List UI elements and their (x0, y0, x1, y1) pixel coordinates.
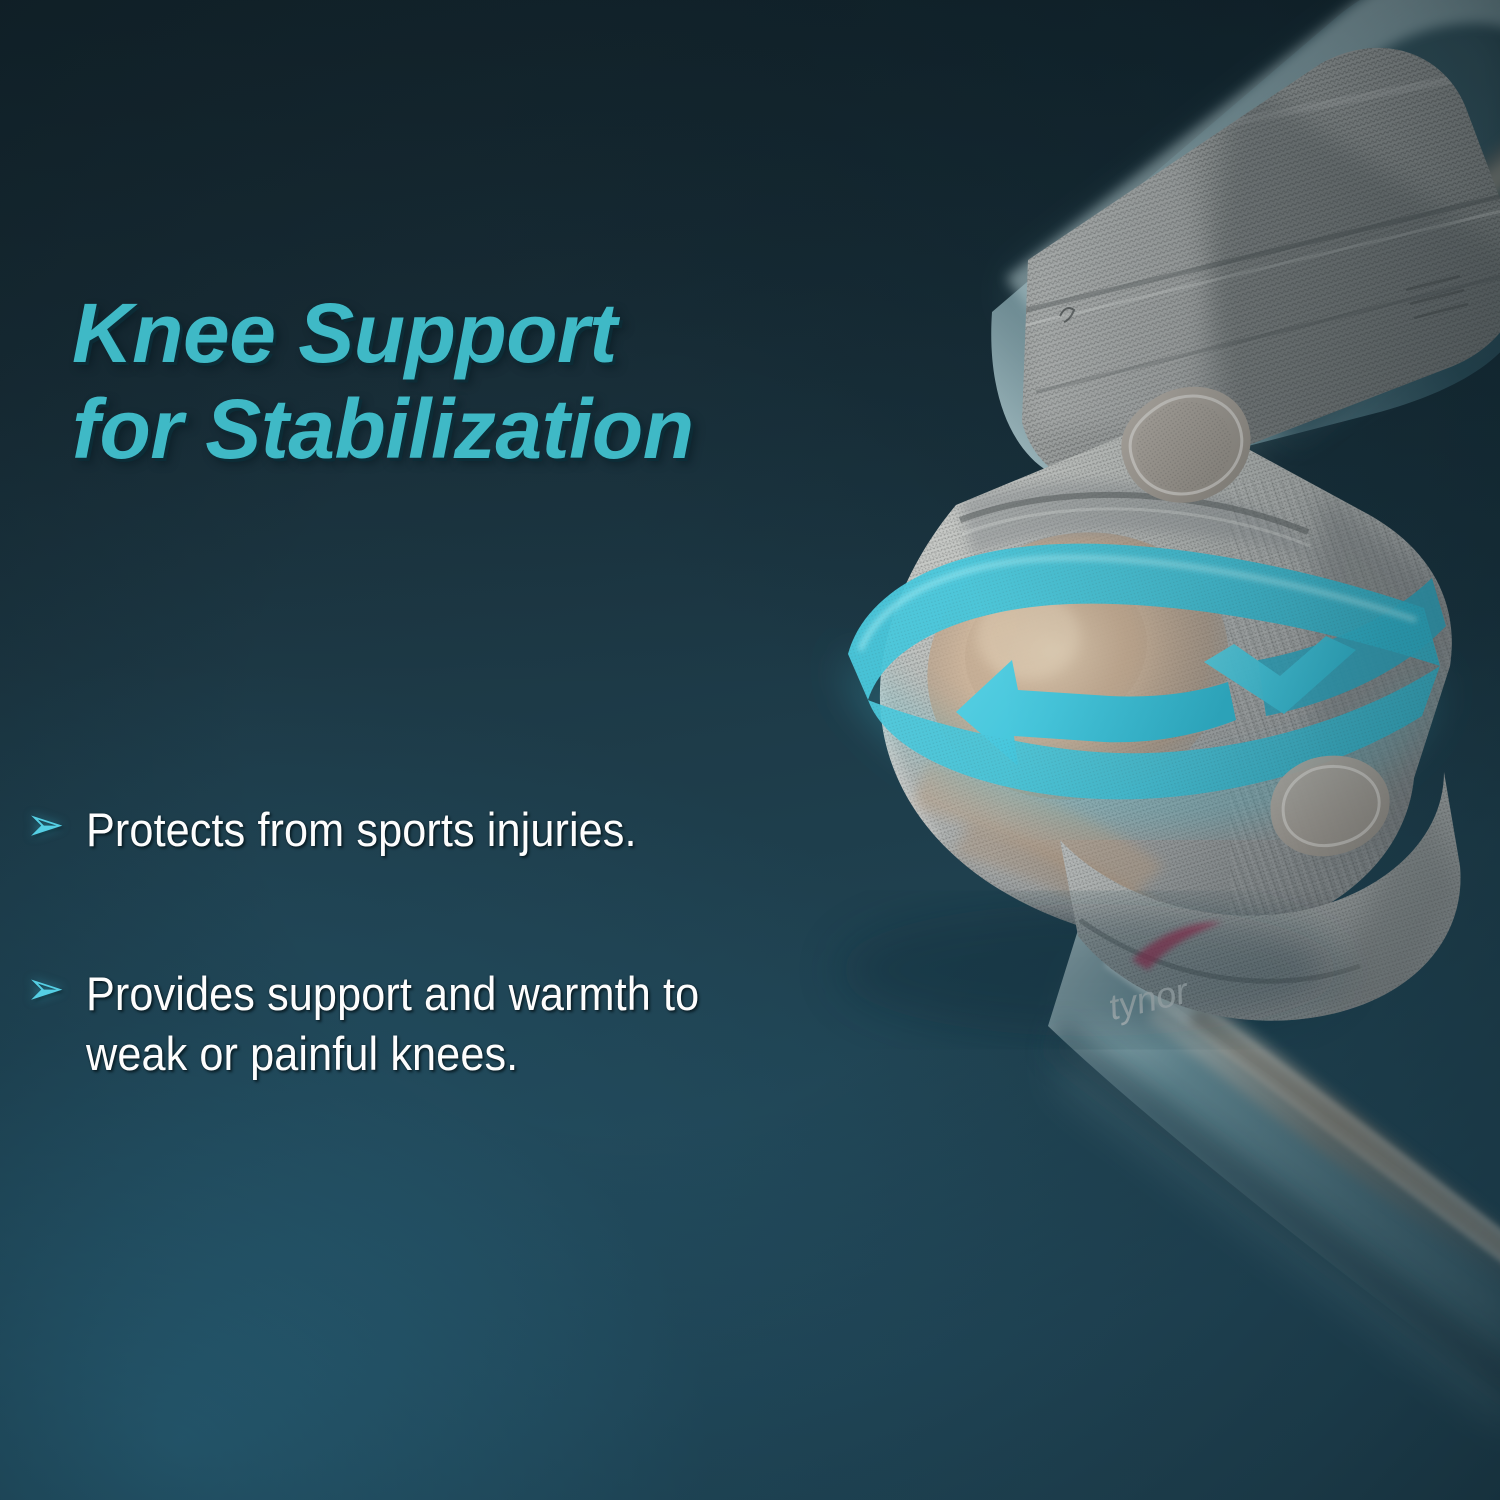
list-item: ➢ Protects from sports injuries. (26, 800, 906, 860)
feature-list: ➢ Protects from sports injuries. ➢ Provi… (26, 800, 906, 1084)
arrowhead-bullet-icon: ➢ (26, 964, 72, 1012)
list-item: ➢ Provides support and warmth to weak or… (26, 964, 906, 1084)
page-title: Knee Support for Stabilization (72, 286, 862, 478)
product-banner: tynor Knee Support for Stabilization ➢ P… (0, 0, 1500, 1500)
feature-text: Provides support and warmth to weak or p… (86, 964, 840, 1084)
arrowhead-bullet-icon: ➢ (26, 800, 72, 848)
background-vignette (0, 0, 1500, 1500)
feature-text: Protects from sports injuries. (86, 800, 840, 860)
